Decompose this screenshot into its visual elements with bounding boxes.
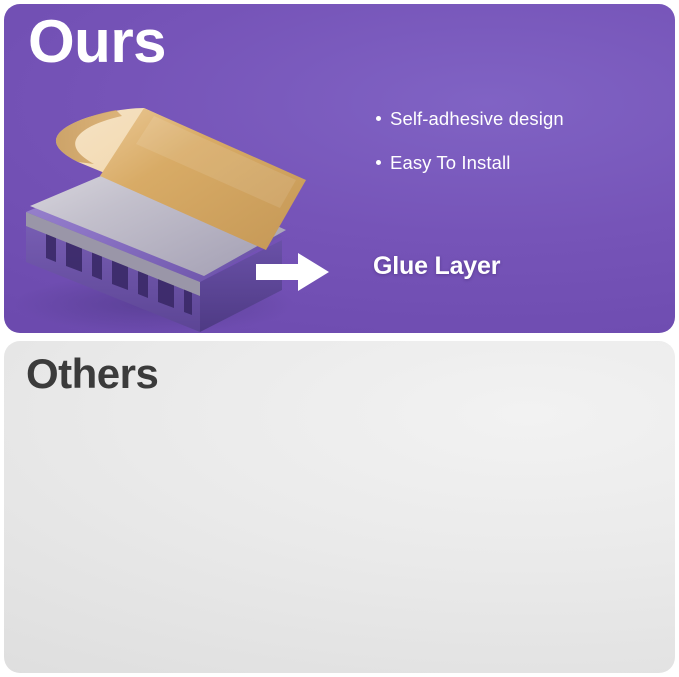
bullet-dot-icon: [376, 116, 381, 121]
feature-text: Easy To Install: [390, 152, 510, 174]
arrow-right-icon-glue-layer: [256, 252, 330, 297]
bullet-dot-icon: [376, 160, 381, 165]
page-title-ours: Ours: [28, 12, 166, 72]
panel-others: Others Need Extra tape Inconvenient inst…: [4, 341, 675, 673]
page-title-others: Others: [26, 353, 158, 395]
list-item: Self-adhesive design: [376, 108, 564, 130]
feature-list-ours: Self-adhesive design Easy To Install: [376, 108, 564, 196]
comparison-infographic: Ours Self-adhesive design Easy To Instal…: [0, 0, 679, 677]
list-item: Easy To Install: [376, 152, 564, 174]
callout-label-glue-layer: Glue Layer: [373, 252, 500, 281]
feature-text: Self-adhesive design: [390, 108, 564, 130]
panel-ours: Ours Self-adhesive design Easy To Instal…: [4, 4, 675, 333]
